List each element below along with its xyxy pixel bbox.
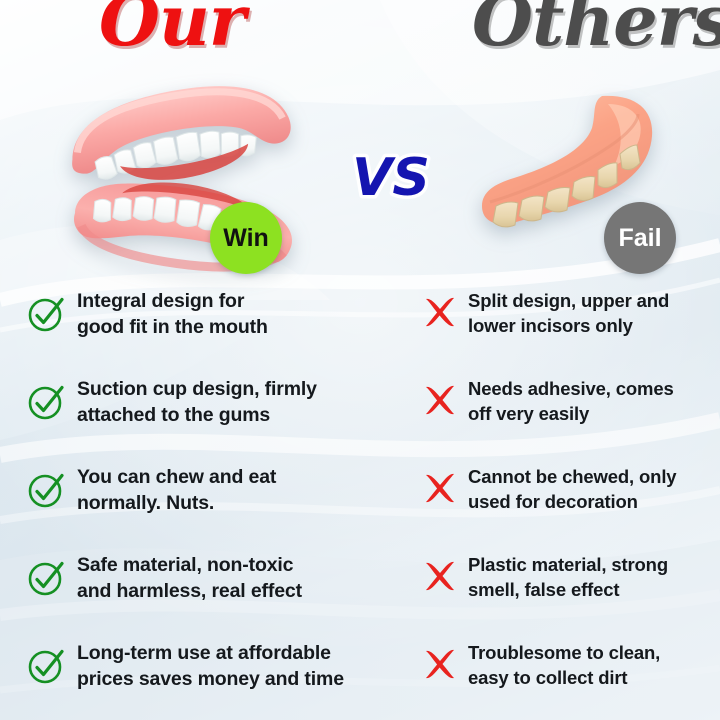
status-badge-win: Win bbox=[210, 202, 282, 274]
feature-text-theirs: Plastic material, strong smell, false ef… bbox=[468, 552, 668, 602]
feature-row-theirs: Needs adhesive, comes off very easily bbox=[420, 376, 720, 464]
feature-row-ours: Suction cup design, firmly attached to t… bbox=[26, 376, 376, 464]
feature-list-theirs: Split design, upper and lower incisors o… bbox=[420, 288, 720, 720]
feature-text-ours: You can chew and eat normally. Nuts. bbox=[77, 464, 276, 516]
green-check-circle-icon bbox=[26, 558, 66, 598]
green-check-circle-icon bbox=[26, 470, 66, 510]
versus-label: VS bbox=[341, 137, 441, 217]
green-check-circle-icon bbox=[26, 382, 66, 422]
red-cross-icon bbox=[420, 557, 460, 595]
feature-text-theirs: Split design, upper and lower incisors o… bbox=[468, 288, 669, 338]
red-cross-icon bbox=[420, 293, 460, 331]
svg-text:VS: VS bbox=[352, 148, 430, 208]
feature-row-ours: Integral design for good fit in the mout… bbox=[26, 288, 376, 376]
feature-row-ours: Safe material, non-toxic and harmless, r… bbox=[26, 552, 376, 640]
comparison-infographic: Our Others bbox=[0, 0, 720, 720]
red-cross-icon bbox=[420, 469, 460, 507]
feature-text-theirs: Needs adhesive, comes off very easily bbox=[468, 376, 674, 426]
feature-text-ours: Long-term use at affordable prices saves… bbox=[77, 640, 344, 692]
feature-text-theirs: Troublesome to clean, easy to collect di… bbox=[468, 640, 660, 690]
green-check-circle-icon bbox=[26, 294, 66, 334]
red-cross-icon bbox=[420, 381, 460, 419]
feature-row-theirs: Troublesome to clean, easy to collect di… bbox=[420, 640, 720, 720]
feature-list-ours: Integral design for good fit in the mout… bbox=[26, 288, 376, 720]
feature-text-ours: Integral design for good fit in the mout… bbox=[77, 288, 268, 340]
feature-text-ours: Safe material, non-toxic and harmless, r… bbox=[77, 552, 302, 604]
feature-row-ours: You can chew and eat normally. Nuts. bbox=[26, 464, 376, 552]
page-title-theirs: Others bbox=[472, 0, 720, 56]
status-badge-fail: Fail bbox=[604, 202, 676, 274]
page-title-ours: Our bbox=[99, 0, 245, 56]
feature-row-ours: Long-term use at affordable prices saves… bbox=[26, 640, 376, 720]
feature-row-theirs: Plastic material, strong smell, false ef… bbox=[420, 552, 720, 640]
feature-text-theirs: Cannot be chewed, only used for decorati… bbox=[468, 464, 676, 514]
feature-text-ours: Suction cup design, firmly attached to t… bbox=[77, 376, 317, 428]
red-cross-icon bbox=[420, 645, 460, 683]
feature-row-theirs: Cannot be chewed, only used for decorati… bbox=[420, 464, 720, 552]
green-check-circle-icon bbox=[26, 646, 66, 686]
feature-row-theirs: Split design, upper and lower incisors o… bbox=[420, 288, 720, 376]
